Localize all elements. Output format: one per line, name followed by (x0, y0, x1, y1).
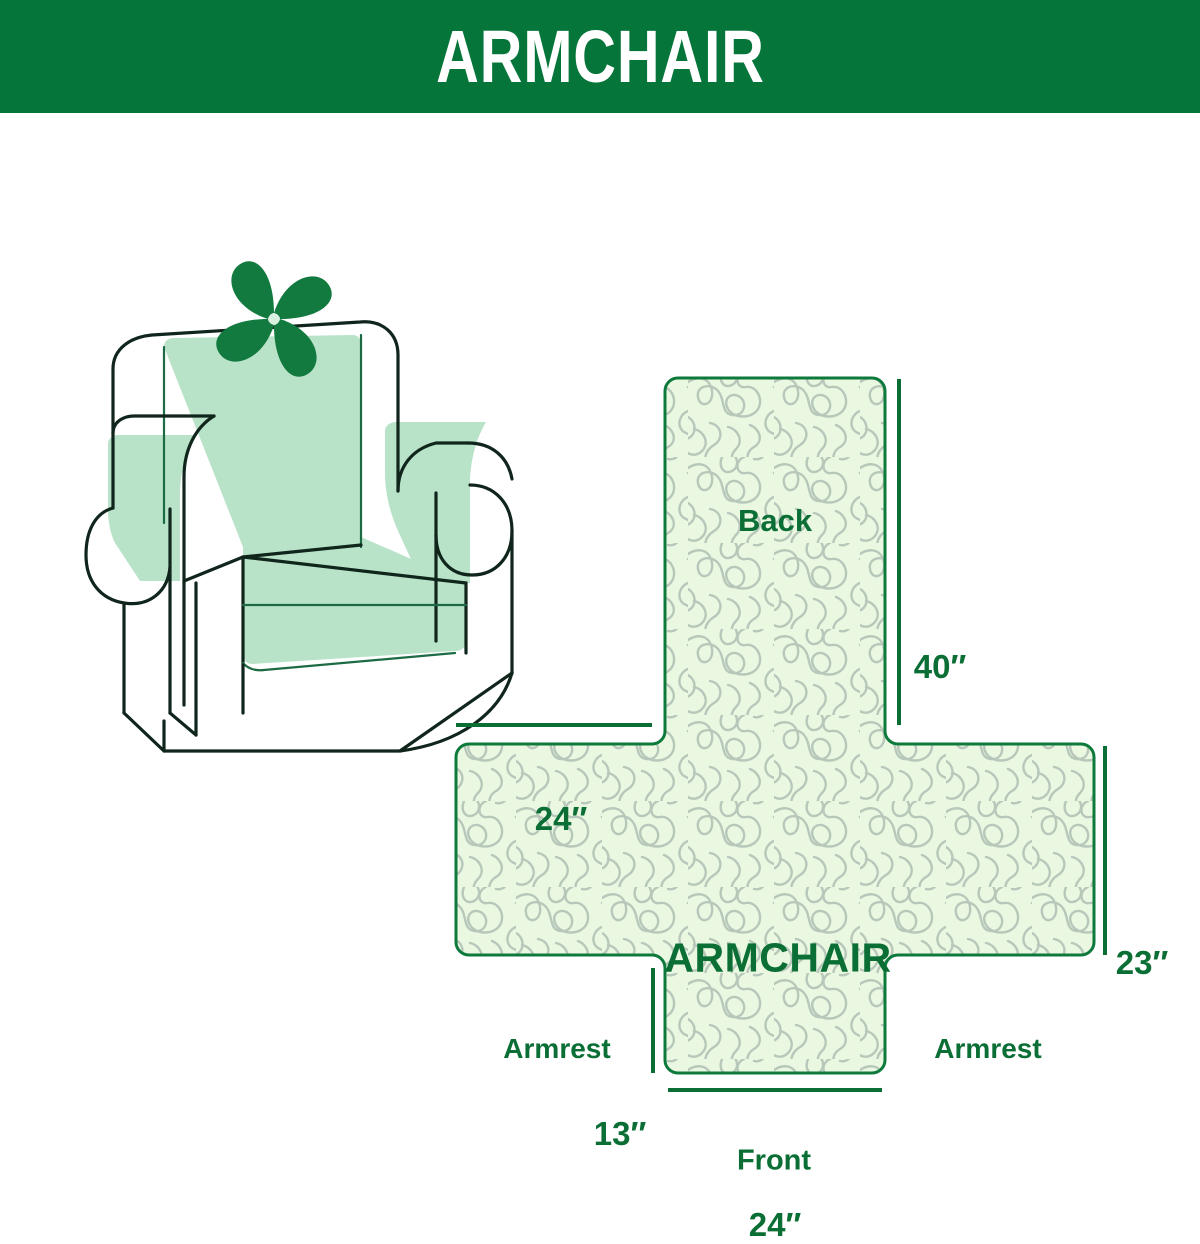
header-banner: ARMCHAIR (0, 0, 1200, 113)
cover-pattern-shape (0, 113, 1200, 1200)
page-title: ARMCHAIR (436, 20, 765, 94)
dimension-label-front-width: 24″ (749, 1206, 802, 1244)
diagram-canvas: Back ARMCHAIR Armrest Armrest Front 40″ … (0, 113, 1200, 1200)
